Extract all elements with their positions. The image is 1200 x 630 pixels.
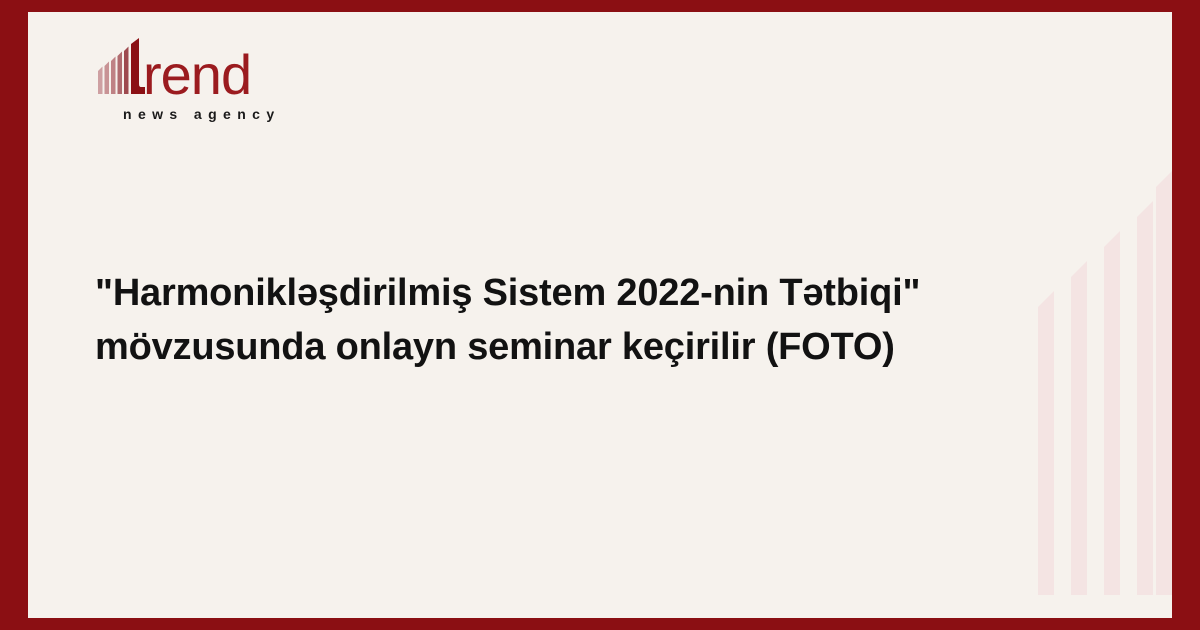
watermark-bar-5 (1156, 171, 1172, 595)
social-share-card: rend news agency "Harmonikləşdirilmiş Si… (0, 0, 1200, 630)
headline-line-2: mövzusunda onlayn seminar keçirilir (FOT… (95, 321, 975, 375)
logo-tagline: news agency (123, 106, 281, 122)
ascending-bars-icon (98, 47, 129, 95)
watermark-bar-1 (1038, 291, 1054, 595)
svg-text:rend: rend (143, 43, 251, 104)
article-headline: "Harmonikləşdirilmiş Sistem 2022-nin Tət… (95, 267, 975, 375)
ascending-bars-watermark (1022, 165, 1172, 595)
watermark-bar-3 (1104, 231, 1120, 595)
watermark-bar-2 (1071, 261, 1087, 595)
logo-letters-rend: rend (143, 43, 251, 104)
logo-wordmark: rend (95, 34, 305, 104)
headline-line-1: "Harmonikləşdirilmiş Sistem 2022-nin Tət… (95, 267, 975, 321)
watermark-bar-4 (1137, 201, 1153, 595)
trend-logo[interactable]: rend news agency (95, 34, 305, 146)
card-canvas: rend news agency "Harmonikləşdirilmiş Si… (28, 12, 1172, 618)
